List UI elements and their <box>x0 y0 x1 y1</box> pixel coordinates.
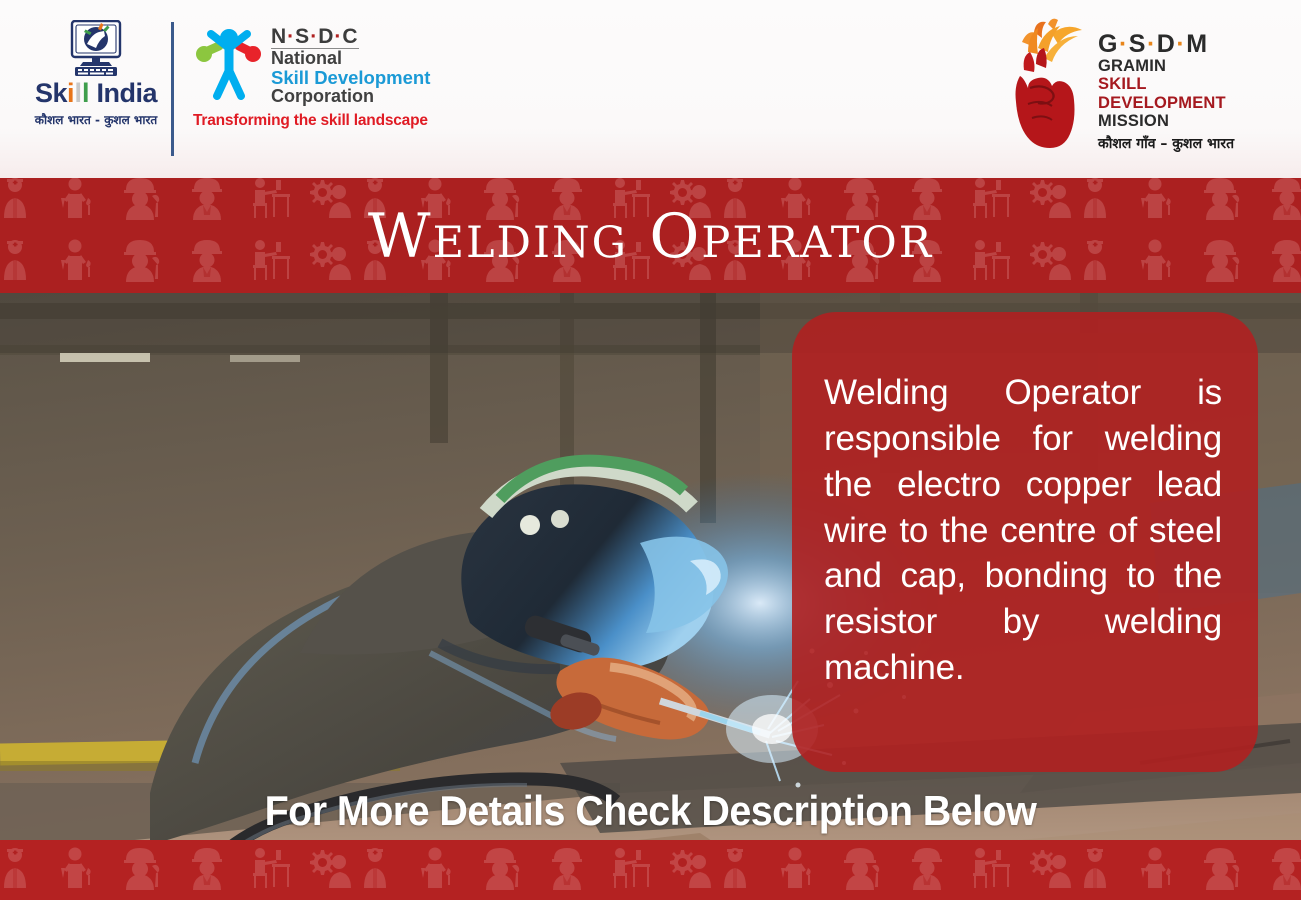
header-bar: Skill India कौशल भारत - कुशल भारत <box>0 0 1301 178</box>
skill-india-hindi-tagline: कौशल भारत - कुशल भारत <box>35 111 157 128</box>
gsdm-logo: G·S·D·M GRAMIN SKILL DEVELOPMENT MISSION… <box>1008 18 1276 158</box>
title-banner: Welding Operator <box>0 178 1301 294</box>
nsdc-tagline: Transforming the skill landscape <box>193 112 443 130</box>
gsdm-line-2: SKILL DEVELOPMENT <box>1098 75 1276 112</box>
skill-india-tricolor-letters: ill <box>67 78 90 108</box>
skill-india-name-part2: India <box>90 78 158 108</box>
nsdc-logo: N·S·D·C National Skill Development Corpo… <box>193 24 443 149</box>
cta-text: For More Details Check Description Below <box>265 787 1037 835</box>
hand-holding-tools-icon <box>1008 18 1094 150</box>
nsdc-abbreviation: N·S·D·C <box>271 26 359 49</box>
header-divider <box>171 22 174 156</box>
page-title: Welding Operator <box>0 178 1301 294</box>
skill-india-name-part1: Sk <box>35 78 67 108</box>
gsdm-line-3: MISSION <box>1098 112 1276 130</box>
nsdc-line-3: Corporation <box>271 87 430 106</box>
gsdm-abbreviation: G·S·D·M <box>1098 32 1276 57</box>
bottom-banner <box>0 840 1301 900</box>
poster-root: Skill India कौशल भारत - कुशल भारत <box>0 0 1301 900</box>
gsdm-line-1: GRAMIN <box>1098 57 1276 75</box>
three-people-icon <box>193 24 265 100</box>
skill-india-wordmark: Skill India <box>35 80 157 107</box>
worker-silhouette-pattern-bottom <box>0 840 1301 900</box>
monitor-hand-tools-icon <box>65 20 127 78</box>
skill-india-logo: Skill India कौशल भारत - कुशल भारत <box>26 16 166 156</box>
cta-banner: For More Details Check Description Below <box>0 787 1301 835</box>
description-text: Welding Operator is responsible for weld… <box>824 370 1222 691</box>
nsdc-line-1: National <box>271 49 430 68</box>
description-card: Welding Operator is responsible for weld… <box>792 312 1258 772</box>
nsdc-line-2: Skill Development <box>271 68 430 87</box>
gsdm-hindi-tagline: कौशल गाँव – कुशल भारत <box>1098 134 1276 153</box>
